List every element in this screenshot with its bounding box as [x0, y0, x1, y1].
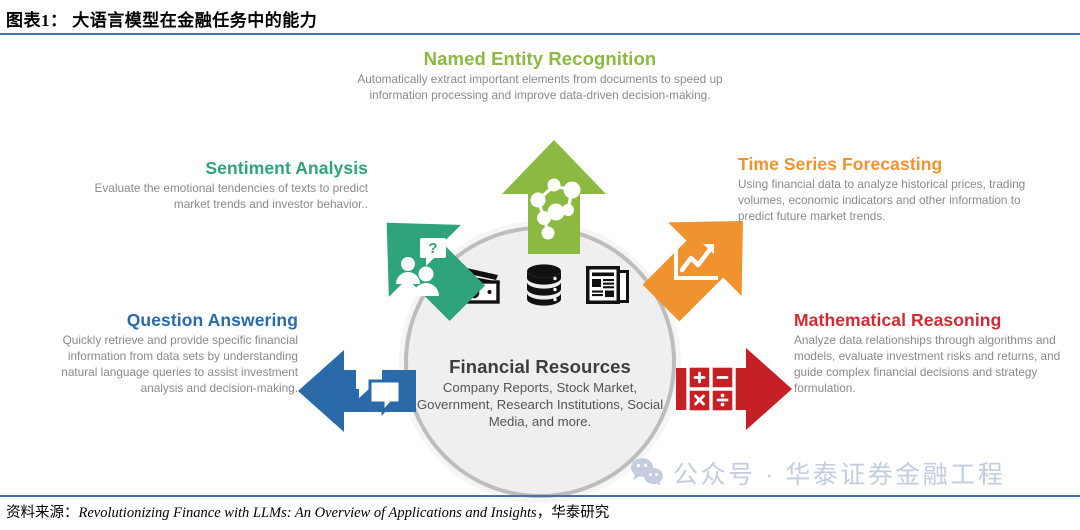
label-question-answering: Question Answering Quickly retrieve and … — [38, 310, 298, 396]
financial-resources-subtitle: Company Reports, Stock Market, Governmen… — [404, 380, 676, 430]
label-title-sentiment: Sentiment Analysis — [58, 158, 368, 178]
arrow-mathematical-reasoning[interactable] — [674, 344, 794, 434]
capability-diagram: Financial Resources Company Reports, Sto… — [0, 36, 1080, 495]
newspaper-icon — [584, 263, 632, 307]
label-title-tsf: Time Series Forecasting — [738, 154, 1038, 174]
source-title: Revolutionizing Finance with LLMs: An Ov… — [79, 505, 537, 521]
arrow-named-entity-recognition[interactable] — [498, 138, 610, 256]
label-named-entity-recognition: Named Entity Recognition Automatically e… — [330, 48, 750, 104]
financial-resources-title: Financial Resources — [404, 356, 676, 378]
exhibit-header: 图表1： 大语言模型在金融任务中的能力 — [0, 0, 1080, 36]
label-mathematical-reasoning: Mathematical Reasoning Analyze data rela… — [794, 310, 1064, 396]
label-desc-tsf: Using financial data to analyze historic… — [738, 177, 1038, 224]
source-note: 资料来源：Revolutionizing Finance with LLMs: … — [6, 501, 1006, 522]
financial-resources-text: Financial Resources Company Reports, Sto… — [404, 356, 676, 430]
arrow-question-answering[interactable] — [296, 346, 418, 436]
label-title-math: Mathematical Reasoning — [794, 310, 1064, 330]
svg-text:?: ? — [428, 240, 437, 257]
label-time-series-forecasting: Time Series Forecasting Using financial … — [738, 154, 1038, 225]
source-suffix: ，华泰研究 — [537, 505, 610, 521]
calculator-icon — [688, 366, 734, 412]
label-title-ner: Named Entity Recognition — [330, 48, 750, 69]
arrow-sentiment-analysis[interactable]: ? — [366, 202, 488, 324]
label-title-qa: Question Answering — [38, 310, 298, 330]
label-desc-sentiment: Evaluate the emotional tendencies of tex… — [58, 181, 368, 213]
header-divider — [0, 33, 1080, 35]
database-icon — [524, 263, 564, 307]
label-sentiment-analysis: Sentiment Analysis Evaluate the emotiona… — [58, 158, 368, 213]
source-prefix: 资料来源： — [6, 505, 79, 521]
label-desc-math: Analyze data relationships through algor… — [794, 333, 1064, 396]
label-desc-qa: Quickly retrieve and provide specific fi… — [38, 333, 298, 396]
page-title: 图表1： 大语言模型在金融任务中的能力 — [6, 6, 1080, 31]
label-desc-ner: Automatically extract important elements… — [330, 72, 750, 104]
footer-divider — [0, 495, 1080, 497]
